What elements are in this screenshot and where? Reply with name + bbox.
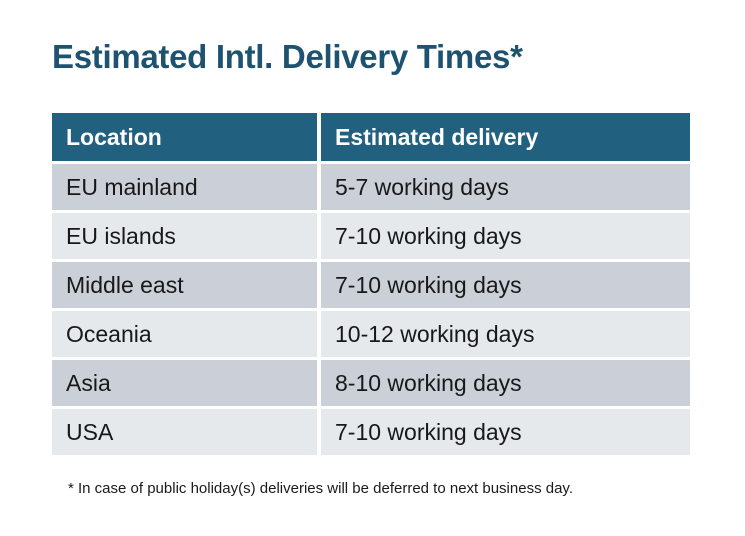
table-row: EU mainland 5-7 working days — [52, 164, 690, 210]
cell-location: Asia — [52, 360, 317, 406]
table-row: Middle east 7-10 working days — [52, 262, 690, 308]
cell-location: Oceania — [52, 311, 317, 357]
column-header-estimated-delivery: Estimated delivery — [321, 113, 690, 161]
delivery-times-page: Estimated Intl. Delivery Times* Location… — [0, 0, 745, 536]
delivery-times-table: Location Estimated delivery EU mainland … — [52, 113, 690, 455]
cell-delivery: 7-10 working days — [321, 213, 690, 259]
cell-delivery: 10-12 working days — [321, 311, 690, 357]
table-row: Asia 8-10 working days — [52, 360, 690, 406]
column-header-location: Location — [52, 113, 317, 161]
cell-delivery: 8-10 working days — [321, 360, 690, 406]
cell-delivery: 7-10 working days — [321, 262, 690, 308]
cell-location: EU mainland — [52, 164, 317, 210]
cell-delivery: 7-10 working days — [321, 409, 690, 455]
cell-location: EU islands — [52, 213, 317, 259]
table-row: USA 7-10 working days — [52, 409, 690, 455]
cell-location: USA — [52, 409, 317, 455]
table-header-row: Location Estimated delivery — [52, 113, 690, 161]
cell-delivery: 5-7 working days — [321, 164, 690, 210]
table-row: Oceania 10-12 working days — [52, 311, 690, 357]
cell-location: Middle east — [52, 262, 317, 308]
page-title: Estimated Intl. Delivery Times* — [52, 36, 523, 78]
footnote-text: * In case of public holiday(s) deliverie… — [68, 479, 573, 499]
table-row: EU islands 7-10 working days — [52, 213, 690, 259]
